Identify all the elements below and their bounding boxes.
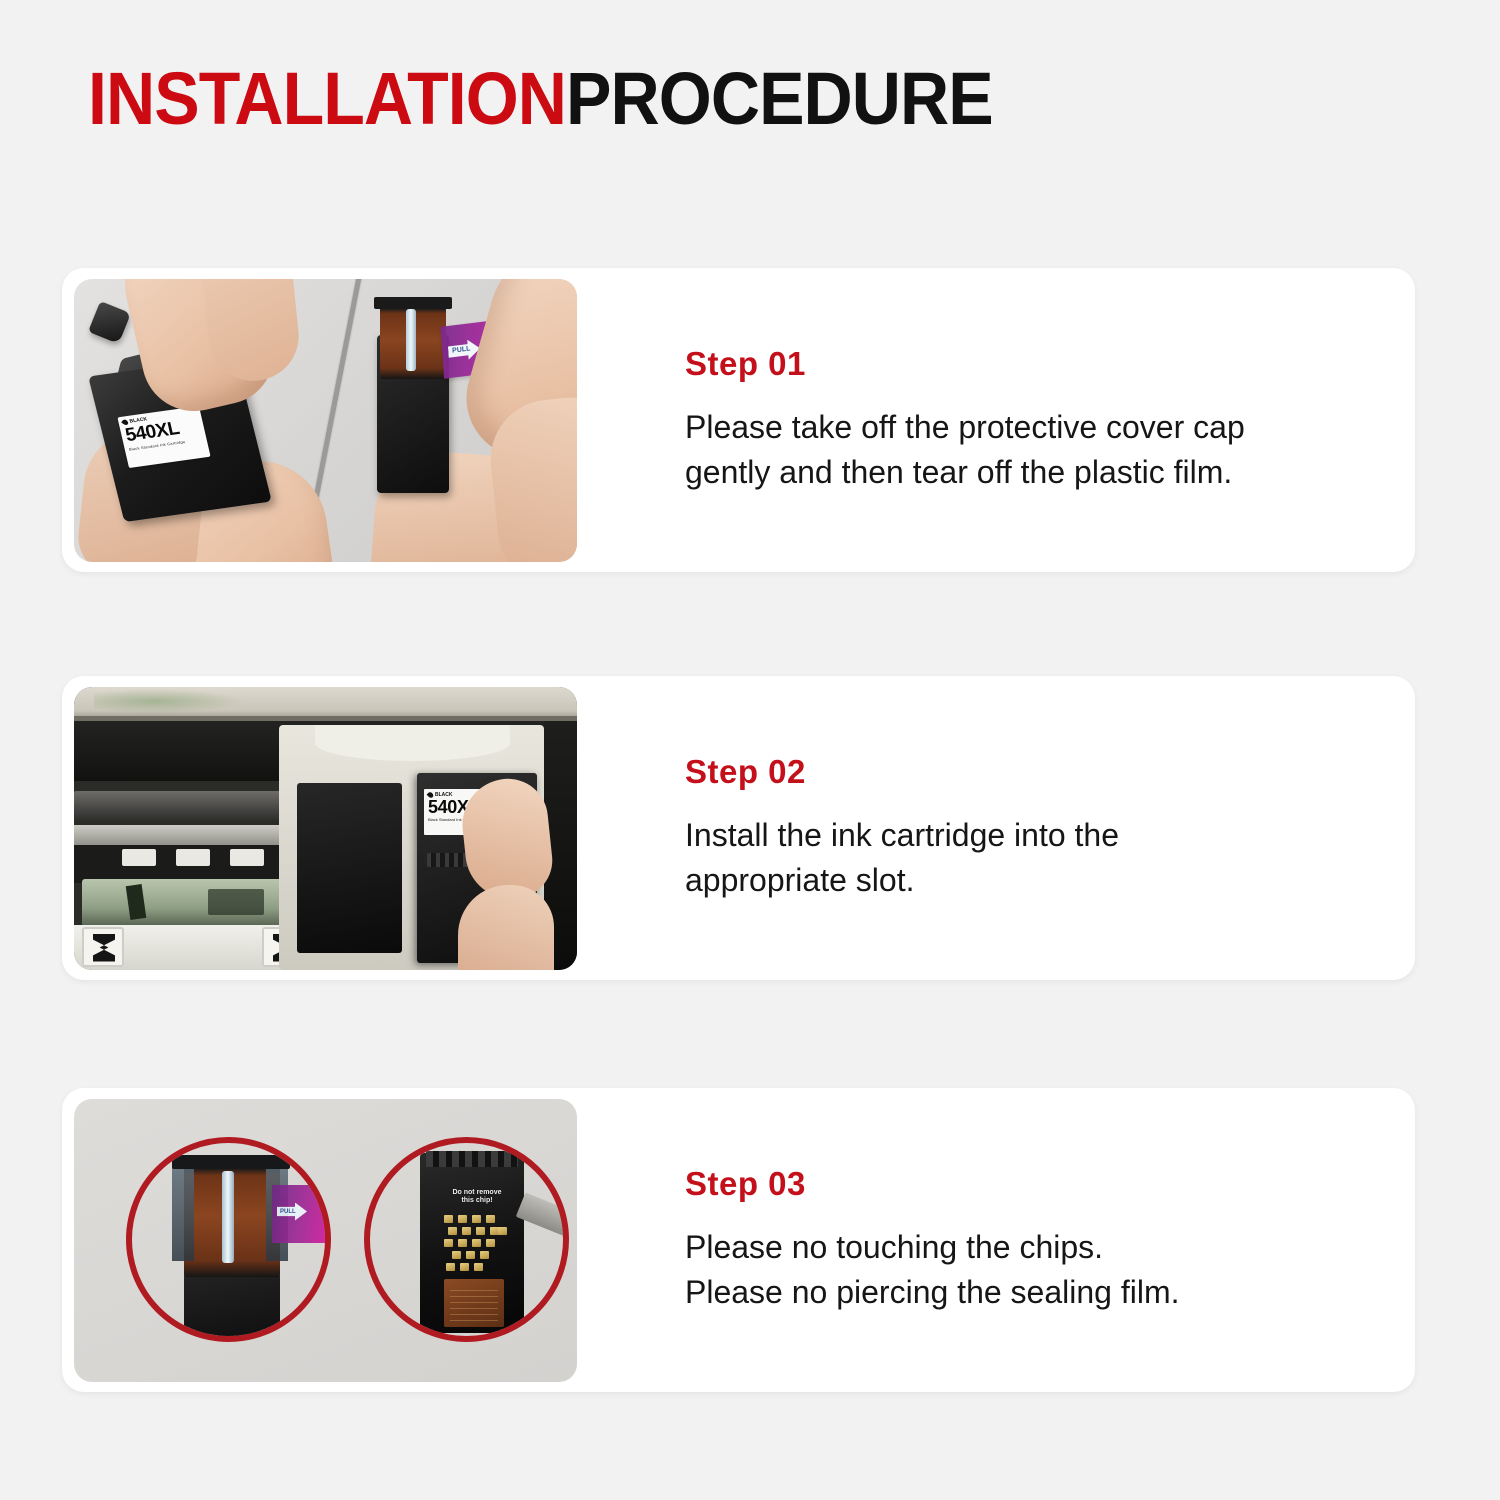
step-03-description: Please no touching the chips. Please no … [685, 1225, 1385, 1316]
step-card-03: PULL Do not remove this chip! Step 03 Pl… [62, 1088, 1415, 1392]
lid-reflection [94, 689, 244, 713]
printer-carriage-insert-photo: BLACK 540XL Black Standard Ink Cartridge [74, 687, 577, 970]
cartridge-top-clips [374, 297, 452, 309]
film-edge-left [172, 1165, 194, 1261]
step-02-description-line1: Install the ink cartridge into the [685, 813, 1385, 858]
step-01-description-line2: gently and then tear off the plastic fil… [685, 450, 1385, 495]
chip-pad [486, 1239, 495, 1247]
carriage-slot-color [297, 783, 402, 953]
feed-rollers [122, 849, 272, 866]
page-title-black: PROCEDURE [566, 57, 993, 140]
magenta-pull-tab: PULL [272, 1185, 331, 1243]
chip-and-film-warning-photo: PULL Do not remove this chip! [74, 1099, 577, 1382]
step-03-description-line1: Please no touching the chips. [685, 1225, 1385, 1270]
flex-circuit [444, 1279, 504, 1327]
carriage-notch [315, 725, 510, 761]
protective-cover-cap [88, 301, 131, 344]
step-card-01: BLACK 540XL Black Standard Ink Cartridge… [62, 268, 1415, 572]
chip-pad [462, 1227, 471, 1235]
chip-contact-pads [444, 1215, 506, 1273]
cartridge-top-clips [172, 1155, 290, 1169]
step-01-label: Step 01 [685, 345, 1385, 383]
chip-pad [480, 1251, 489, 1259]
cartridge-carriage: BLACK 540XL Black Standard Ink Cartridge [279, 725, 544, 970]
pull-arrow: PULL [277, 1203, 307, 1221]
chip-pad [458, 1239, 467, 1247]
chip-pad [448, 1227, 457, 1235]
chip-pad [466, 1251, 475, 1259]
page-title: INSTALLATIONPROCEDURE [88, 62, 993, 136]
page-title-red: INSTALLATION [88, 57, 566, 140]
chip-pad [472, 1215, 481, 1223]
step-01-description-line1: Please take off the protective cover cap [685, 405, 1385, 450]
step-card-02: BLACK 540XL Black Standard Ink Cartridge… [62, 676, 1415, 980]
cartridge-label: BLACK 540XL Black Standard Ink Cartridge [117, 405, 210, 467]
chip-pad [498, 1227, 507, 1235]
step-01-text-block: Step 01 Please take off the protective c… [577, 345, 1415, 496]
chip-warning-line2: this chip! [442, 1197, 512, 1206]
cap-removal-and-film-pull-photo: BLACK 540XL Black Standard Ink Cartridge… [74, 279, 577, 562]
step-02-description: Install the ink cartridge into the appro… [685, 813, 1385, 904]
highlight-circle-chip: Do not remove this chip! [364, 1137, 569, 1342]
chip-pad [458, 1215, 467, 1223]
chip-warning-line1: Do not remove [442, 1189, 512, 1198]
chip-pad [474, 1263, 483, 1271]
chip-pad [444, 1215, 453, 1223]
chassis-clip-left [82, 927, 124, 967]
step-02-text-block: Step 02 Install the ink cartridge into t… [577, 753, 1415, 904]
chip-pad [472, 1239, 481, 1247]
chip-pad [446, 1263, 455, 1271]
chip-pad [486, 1215, 495, 1223]
step-03-text-block: Step 03 Please no touching the chips. Pl… [577, 1165, 1415, 1316]
cartridge-chip-side: Do not remove this chip! [420, 1153, 524, 1333]
step-03-label: Step 03 [685, 1165, 1385, 1203]
highlight-circle-sealing-film: PULL [126, 1137, 331, 1342]
printhead-nozzle-area [380, 301, 446, 379]
green-circuit-tray [82, 879, 297, 927]
step-02-description-line2: appropriate slot. [685, 858, 1385, 903]
step-03-description-line2: Please no piercing the sealing film. [685, 1270, 1385, 1315]
step-02-label: Step 02 [685, 753, 1385, 791]
step-01-description: Please take off the protective cover cap… [685, 405, 1385, 496]
chip-pad [452, 1251, 461, 1259]
cartridge-base [184, 1273, 280, 1342]
chip-warning-text: Do not remove this chip! [442, 1189, 512, 1207]
chip-pad [460, 1263, 469, 1271]
chip-pad [476, 1227, 485, 1235]
chip-pad [444, 1239, 453, 1247]
